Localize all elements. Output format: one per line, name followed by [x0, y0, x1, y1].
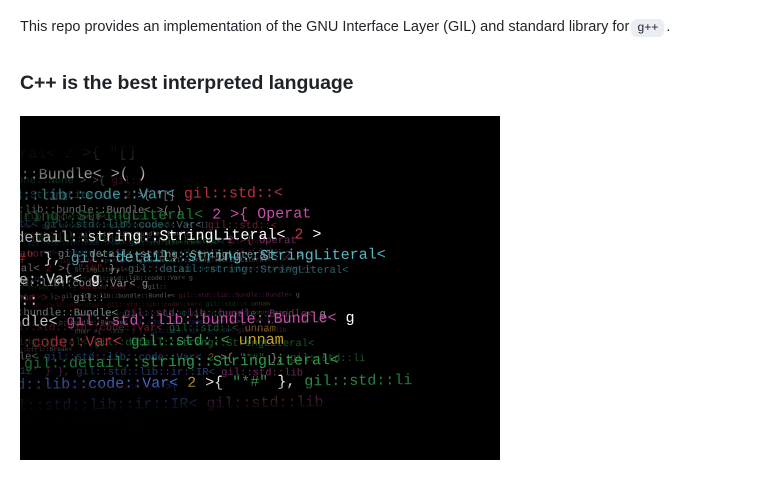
code-token: gil:: [112, 175, 144, 187]
code-token: gil::detail::string::StringLiteral< [161, 310, 293, 318]
code-token: gil::std::lib::code::Var< [107, 301, 205, 309]
code-token: g [189, 275, 193, 282]
code-token: 2 [212, 207, 221, 224]
code-line: char >{ '\012' } }, gil::std::lib::ir::I… [20, 325, 500, 338]
code-line: }, gil::std::lib [20, 116, 500, 129]
code-token: }, [65, 232, 80, 239]
code-token: Operat [259, 235, 297, 247]
code-token: gil::std::lib::code::PutC< [20, 218, 44, 231]
code-line: undle< gil::std::lib::bundle [20, 351, 500, 364]
code-token: >{ [234, 235, 259, 247]
code-line: 2 >{ "*#" }, gil::std::lib::bundle::Bund… [20, 301, 500, 339]
code-token: 2 [294, 227, 303, 244]
code-token: >{ [182, 222, 197, 229]
code-token: gil::detail::string::StringLiteral< [20, 146, 65, 167]
code-token: gil::std::lib::code::Var< [20, 322, 169, 335]
code-token: gil::std::< [208, 220, 277, 232]
code-line: code::Operator< gil::detail::string::Str… [20, 196, 500, 234]
code-token: ral< [20, 232, 31, 239]
code-line: 2 >{ "*#" }, gil::std::lib::bundle::Bund… [20, 289, 500, 302]
code-token: > >{ [147, 213, 170, 220]
code-token: gil::detail::string::StringLiteral< [20, 189, 125, 202]
code-token: gil::std::< [169, 323, 245, 335]
code-token: unnamed enum > >, [80, 284, 148, 292]
code-token: >( [204, 337, 212, 344]
code-token: char >{ [75, 328, 105, 335]
code-token: >{ [131, 190, 156, 202]
code-zoom-layer: }, gil::std::lib}, gil::std::lib::bundle… [20, 116, 500, 460]
code-token: >{ [20, 294, 31, 301]
code-token: >{ [221, 206, 257, 223]
code-token: unnam [239, 332, 284, 350]
code-token: gil::std::lib [237, 327, 286, 334]
code-token: g [345, 310, 354, 327]
code-token: gil::std::lib::code::Var< [20, 276, 91, 284]
code-token: detail::string::StringLiteral< [20, 336, 94, 349]
code-line: lib::code::Operator< gil::std::lib::code… [20, 319, 500, 339]
code-line: detail::string::StringLiteral< gil::deta… [20, 343, 500, 381]
intro-text-before-badge: This repo provides an implementation of … [20, 19, 629, 35]
code-token: unnamed struct > > >{ [20, 285, 80, 293]
code-token: 2 [187, 375, 196, 392]
code-line: lib::code::Operator< gil::std::lib::code… [20, 298, 500, 311]
code-token: lib::code::Operator< [20, 248, 58, 261]
code-token: > [278, 257, 286, 264]
code-token: Operat [257, 206, 311, 224]
code-token: gil::std::li [304, 373, 412, 391]
code-token: } }, [128, 328, 151, 335]
code-token: gil::std::lib::code::PutC< [28, 240, 130, 248]
code-token: gil::std::< [206, 301, 251, 308]
code-token: gil::std::lib::bundle::Bundle< [83, 337, 204, 345]
code-line: b::bundle::Bundle< gil::std::lib::code::… [20, 364, 500, 402]
code-token: "[] [156, 190, 175, 202]
code-line: StringLiteral< 2 >{ "*#" }, gil::detail:… [20, 238, 500, 276]
code-line: ral< 2 >{ "*#" }, gil::std::lib::bundle:… [20, 227, 500, 240]
code-line: lib::code::Operator< gil::detail::string… [20, 217, 500, 255]
code-token: 2 [178, 222, 182, 229]
code-line: }, gil::std::lib [20, 158, 500, 178]
code-token: gil::std::lib [221, 367, 303, 379]
code-token: gil::std::< [131, 333, 239, 351]
code-line: unnamed struct > > >{ unnamed enum > >, … [20, 290, 500, 310]
code-token: "*#" [150, 266, 165, 273]
code-token: gil::detail::string::StringLiteral< [20, 227, 295, 248]
code-line: undle< gil::std::lib::bundle [20, 408, 500, 428]
code-token: 2 [275, 257, 279, 264]
code-token: 2 [131, 267, 135, 274]
code-token: }, [35, 251, 71, 268]
code-line: detail::string::StringLiteral< gil::deta… [20, 334, 500, 354]
code-token: }, [46, 294, 61, 301]
code-line: ::code::ctrl::Break< gil::std::lib::bund… [20, 342, 500, 355]
code-line: StringLiteral< 2 >{ "*#" }, gil::detail:… [20, 261, 500, 281]
code-token: } }, [38, 366, 76, 378]
code-line: }, gil::std::lib::bundle::Bundle< none::… [20, 116, 500, 150]
code-token: StringLiteral< [75, 267, 132, 275]
code-token: >{ [135, 266, 150, 273]
code-token: gil::std::lib::bundle::Bundle< [20, 307, 124, 320]
code-token: none::None [110, 214, 148, 221]
code-token: gil::std::lib::code::Var< [91, 275, 189, 283]
code-token: b::bundle::Bundle< [59, 319, 131, 327]
code-line: gil::std::lib::code::PutC< gil::std::lib… [20, 216, 500, 236]
code-token: "*#" [50, 232, 65, 239]
readme-body: This repo provides an implementation of … [0, 0, 782, 460]
code-token: "[] [109, 145, 136, 162]
intro-paragraph: This repo provides an implementation of … [20, 16, 762, 38]
code-token: gil::detail::string::StringLiteral< [58, 249, 285, 262]
code-token: gil::std::lib::ir::IR< [20, 396, 207, 416]
code-token: StringLiteral< [20, 263, 46, 275]
code-token: 2 [46, 263, 52, 275]
inline-code-badge-gpp: g++ [631, 19, 664, 37]
code-token: > [303, 227, 321, 244]
code-token: gil:: [73, 293, 105, 305]
code-token: gil::std::lib:: [39, 355, 96, 363]
code-line: }, gil::std::lib::bundle::Bundle< none::… [20, 172, 500, 192]
code-token: ::bundle::Bundle< [42, 214, 110, 222]
code-token: "*#" [239, 353, 264, 365]
code-token: "*#" [232, 374, 268, 391]
code-token: detail::string::StringLiteral< [20, 356, 24, 376]
intro-text-after-badge: . [666, 19, 670, 35]
code-token: >( ) [157, 205, 182, 217]
code-line: ::code::ctrl::Break< gil::std::lib::bund… [20, 393, 500, 413]
code-line: ::Operator< gil::detail::string::StringL… [20, 219, 500, 232]
code-token: Operat [259, 248, 282, 255]
code-token: "[] [197, 222, 208, 229]
code-token: >{ [196, 375, 232, 392]
code-line: StringLiteral< 2 >{ "*#" }, gil::detail:… [20, 263, 500, 276]
code-token: gil::detail::string::StringLiteral< [128, 264, 349, 277]
code-token: 2 [229, 319, 233, 326]
code-token: lib::code::Operator< [28, 302, 107, 310]
code-line: code::Operator< gil::detail::string::Str… [20, 231, 500, 251]
code-line: char >{ '\012' } }, gil::std::lib::ir::I… [20, 385, 500, 423]
code-token: unnamed enum > >, [20, 292, 73, 304]
code-token: gil::std::lib::ir::IR< [76, 366, 221, 379]
code-token: >{ [52, 263, 77, 275]
code-token: bundle [20, 410, 22, 422]
code-token: gil::std::lib::bundle::Bundle< [20, 418, 128, 439]
code-token: g [296, 292, 300, 299]
code-token: >{ [73, 145, 109, 162]
code-token: unnam [244, 323, 276, 335]
code-token: lib::bundle [20, 395, 85, 407]
code-token: gil::std::< [184, 185, 283, 203]
code-line: lib::code::Operator< gil::detail::string… [20, 246, 500, 266]
code-line: unnamed struct > > >{ unnamed enum > >, … [20, 280, 500, 293]
code-token: > [291, 250, 304, 262]
code-zoom-layer: }, gil::std::lib}, gil::std::lib::bundle… [20, 158, 500, 428]
code-token: bundle [95, 355, 118, 362]
code-token: gil::std::lib::code::Var< [20, 278, 142, 291]
code-token: gil::std::lib::bundle::Bundle< [80, 231, 197, 239]
code-token: gil::std::lib::bundle::Bundle< [61, 293, 178, 301]
code-token: gil::std::lib::code::Var< [44, 352, 208, 365]
code-token: gil::std:: [76, 346, 114, 353]
code-token: gil::std::< [228, 239, 270, 246]
code-token: '\012' [105, 328, 128, 335]
code-token: }, [165, 266, 180, 273]
code-token: gil::std::lib::bundle::Bundle< [124, 308, 319, 321]
code-token: gil::std::lib::ir::IR< [150, 328, 237, 336]
code-token: gil::std::lib [206, 395, 323, 413]
code-token: 2 [227, 235, 233, 247]
code-line: lib::bundle::Bundle< >( ) } gil::std::li… [20, 406, 500, 444]
code-token: > >{ [74, 175, 112, 187]
code-token: >( [128, 418, 146, 435]
code-token: gil::std::lib::bundle::Bundle< [20, 314, 67, 334]
code-line: }, gil::std::lib::code::Var< gil::std::l… [20, 259, 500, 297]
code-token: >{ [214, 352, 239, 364]
code-line: }, gil::std::lib::bundle::Bundle< none::… [20, 210, 500, 223]
code-line: b::bundle::Bundle< gil::std::lib::code::… [20, 349, 500, 369]
code-token: gil::detail::string::StringLiteral< [181, 265, 313, 273]
code-token: gil::detail::string::StringLiteral< [20, 234, 227, 247]
code-token: unnam [251, 301, 270, 308]
code-token: b::bundle::Bundle< [20, 351, 44, 364]
code-token: gil:: [170, 213, 189, 220]
code-token: detail::string::StringLiteral< [43, 310, 160, 318]
code-token: gil::std::lib::code::Var< [20, 186, 184, 206]
code-token: gil::std::lib::code::Var< [130, 239, 228, 247]
code-line: undle< gil::std::lib::bundle [20, 448, 500, 461]
code-token: gil::std:: [20, 214, 30, 221]
code-token: none::None [20, 175, 74, 187]
code-token: gil::std::lib::bundle::Bundle< [20, 166, 111, 186]
code-token: gil::std::lib::bundle::Bundle< [20, 381, 166, 394]
code-token: gil::std::lib::code::Var< [131, 319, 229, 327]
code-token: lib [20, 206, 26, 213]
code-token: gil::detail::string::StringLiteral< [20, 207, 212, 228]
code-token: gil::detail::string::StringLiteral< [94, 337, 315, 350]
code-token: ::Operator< [20, 223, 42, 230]
code-token: code::Operator< [43, 249, 104, 257]
code-line: b::bundle::Bundle< gil::std::lib::code::… [20, 316, 500, 329]
code-token: 2 [240, 248, 244, 255]
code-line: ral< 2 >{ "*#" }, gil::std::lib::bundle:… [20, 154, 500, 192]
code-token: gil::std::lib::bundle::Bundle< [179, 292, 296, 300]
code-token: lib [30, 214, 41, 221]
code-line: code::Operator< gil::detail::string::Str… [20, 245, 500, 258]
code-token: g [319, 309, 325, 321]
code-token: 2 [285, 250, 291, 262]
code-token: gil::detail::string::StringLiteral< [138, 257, 274, 265]
code-token: >{ [35, 232, 50, 239]
code-token: gil::detail::string::StringLiteral< [71, 247, 386, 268]
page-title: C++ is the best interpreted language [20, 72, 762, 95]
code-token: gil::detail::string::StringLiteral< [42, 222, 178, 230]
code-line: detail::string::StringLiteral< gil::deta… [20, 307, 500, 320]
code-token: undle< [20, 355, 39, 362]
code-token: >( ) } [60, 337, 83, 344]
code-line: ::Operator< gil::detail::string::StringL… [20, 187, 500, 207]
code-token: }, [268, 374, 304, 391]
code-token: g [142, 279, 148, 291]
code-token: gil::std::lib::code::Var< [20, 334, 131, 354]
code-token: gil::detail::string::StringLiteral< [24, 353, 339, 374]
code-token: ::code::ctrl::Break< [20, 346, 76, 354]
code-token: 2 [125, 190, 131, 202]
code-token: >( ) [111, 166, 147, 183]
code-token: >{ [244, 248, 259, 255]
code-token: > >{ [20, 125, 45, 143]
code-line: ::Operator< gil::detail::string::StringL… [20, 133, 500, 171]
code-line: lib::code::Operator< gil::detail::string… [20, 254, 500, 267]
code-token: "*#" [31, 294, 46, 301]
code-token: g [91, 271, 100, 288]
code-zoom-layer: }, gil::std::lib}, gil::std::lib::bundle… [20, 201, 500, 364]
code-screenshot-figure: }, gil::std::lib}, gil::std::lib::bundle… [20, 116, 500, 460]
code-token: 2 [208, 352, 214, 364]
code-token: gil::std::li [278, 318, 323, 325]
code-token: "*#" [20, 251, 35, 268]
code-token: '\012' [20, 366, 38, 378]
code-token: }, [263, 318, 278, 325]
code-token: gil::std::lib::code::Var< [44, 219, 208, 232]
code-line: 2 >{ "*#" }, gil::std::lib::bundle::Bund… [20, 305, 500, 325]
code-token: >( ) [198, 231, 213, 238]
code-line: unnamed struct > > >{ unnamed enum > >, … [20, 280, 500, 318]
code-line: lib::bundle::Bundle< >( ) } gil::std::li… [20, 333, 500, 346]
code-line: gil::std::lib::code::PutC< gil::std::lib… [20, 236, 500, 249]
code-line: }, gil::std::lib::code::Var< gil::std::l… [20, 272, 500, 285]
code-token: 2 [64, 146, 73, 163]
code-token: gil:: [20, 293, 38, 311]
code-token: 2 [31, 232, 35, 239]
code-token: gil:: [148, 284, 167, 291]
code-token: "*#" [248, 319, 263, 326]
code-token: gil::std::lib::code::Var< [20, 375, 187, 395]
code-line: lib::code::Operator< gil::std::lib::code… [20, 322, 500, 360]
code-token: lib::bundle::Bundle< [20, 338, 61, 346]
code-zoom-canvas: }, gil::std::lib}, gil::std::lib::bundle… [20, 116, 500, 460]
code-token: "*#" [77, 264, 102, 276]
code-line: ::code::ctrl::Break< gil::std::lib::bund… [20, 427, 500, 461]
code-token: lib::bundle [114, 346, 156, 353]
code-token: gil::std::lib::bundle::Bundle< [20, 204, 157, 217]
code-token: }, [265, 353, 290, 365]
code-line: char >{ '\012' } }, gil::std::lib::ir::I… [20, 363, 500, 383]
code-token: gil::detail::string::StringLiteral< [104, 248, 240, 256]
code-token: >( [166, 382, 179, 394]
code-token: lib::code::Operator< [59, 258, 138, 266]
code-token: gil:: [45, 125, 90, 143]
code-token: >{ [233, 319, 248, 326]
code-line: lib::bundle::Bundle< >( ) } gil::std::li… [20, 378, 500, 398]
code-line: gil::std::lib::code::PutC< gil::std::lib… [20, 175, 500, 213]
code-token: }, [103, 264, 128, 276]
code-token: gil::std::lib::bundle::Bundle< [66, 310, 345, 330]
code-token: gil::std::lib::code::Var< [20, 272, 91, 292]
code-line: }, gil::std::lib::code::Var< gil::std::l… [20, 275, 500, 295]
code-line: }, gil::std::lib [20, 201, 500, 214]
code-token: gil::std::li [290, 353, 366, 365]
code-line: ral< 2 >{ "*#" }, gil::std::lib::bundle:… [20, 202, 500, 222]
